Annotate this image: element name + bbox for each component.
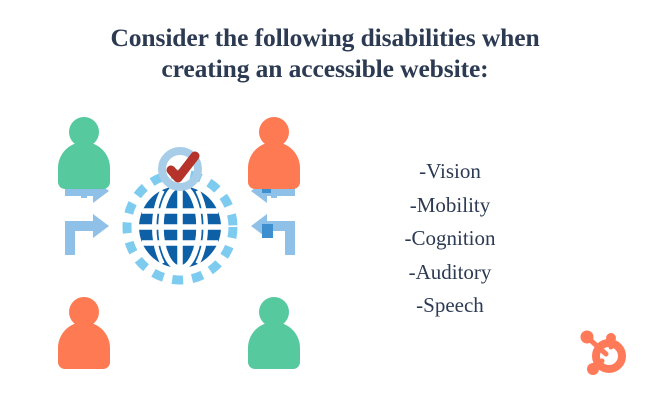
person-top-left (58, 117, 110, 189)
arrow-bottom-right-to-center-icon (251, 214, 295, 255)
person-bottom-right (248, 297, 300, 369)
globe-icon (116, 147, 244, 287)
hubspot-sprocket-icon (575, 325, 627, 377)
person-top-right (248, 117, 300, 189)
list-item-mobility: -Mobility (355, 189, 545, 223)
page-title-line-2: creating an accessible website: (45, 53, 605, 84)
check-badge-icon (162, 151, 198, 187)
list-item-cognition: -Cognition (355, 222, 545, 256)
person-body-icon (248, 142, 300, 189)
hubspot-logo (575, 325, 627, 377)
person-top-left-stem (81, 189, 87, 198)
slide-canvas: Consider the following disabilities when… (0, 0, 650, 400)
arrow-bottom-left-to-center-icon (65, 214, 109, 255)
list-item-auditory: -Auditory (355, 256, 545, 290)
person-top-right-stem (271, 189, 277, 198)
person-body-icon (58, 322, 110, 369)
list-item-speech: -Speech (355, 289, 545, 323)
page-title-line-1: Consider the following disabilities when (45, 22, 605, 53)
person-body-icon (248, 322, 300, 369)
person-bottom-left (58, 297, 110, 369)
list-item-vision: -Vision (355, 155, 545, 189)
page-title: Consider the following disabilities when… (45, 22, 605, 84)
person-body-icon (58, 142, 110, 189)
accessibility-diagram (40, 105, 320, 385)
disability-list: -Vision -Mobility -Cognition -Auditory -… (355, 155, 545, 323)
globe-group (116, 147, 244, 287)
